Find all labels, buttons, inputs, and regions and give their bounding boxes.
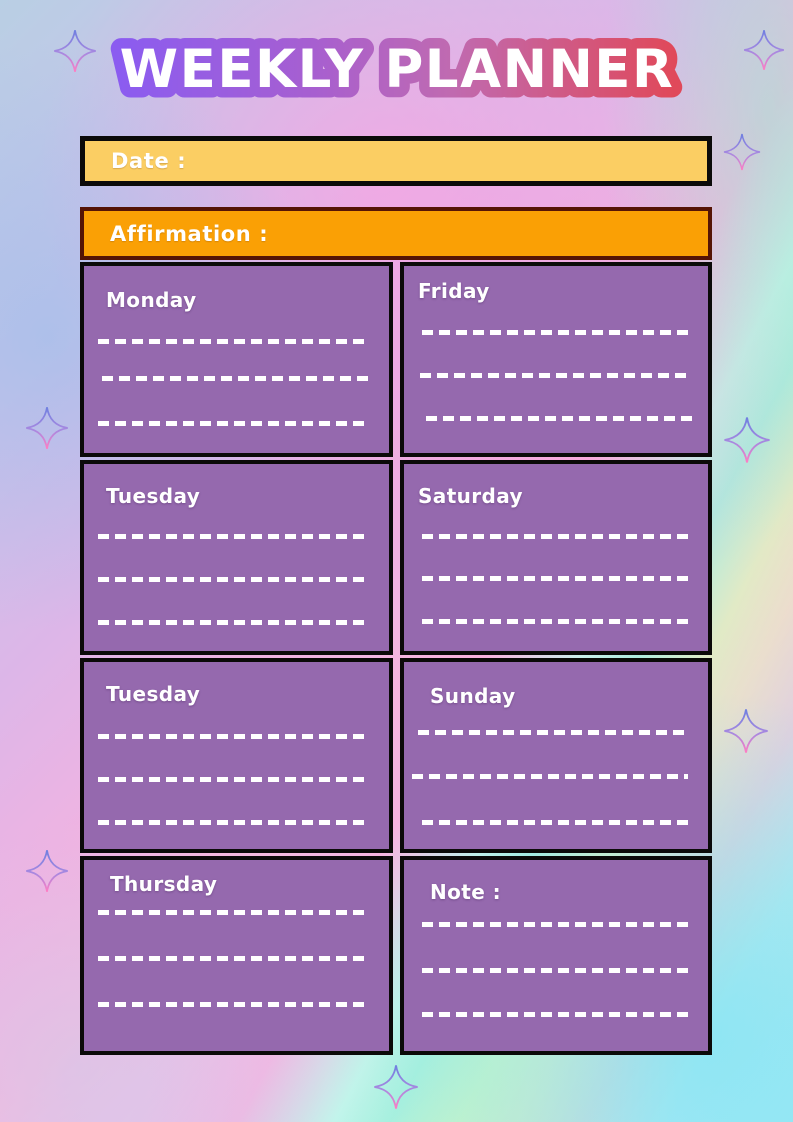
cell-label-thursday: Thursday — [110, 872, 217, 896]
day-cell-friday[interactable]: Friday — [400, 262, 712, 457]
write-line-friday-3[interactable] — [426, 416, 696, 421]
four-point-sparkle-icon — [24, 405, 70, 455]
four-point-sparkle-icon — [722, 415, 772, 469]
write-line-note-2[interactable] — [422, 968, 690, 973]
cell-label-sunday: Sunday — [430, 684, 516, 708]
write-line-tuesday-2-2[interactable] — [98, 777, 366, 782]
day-grid: MondayFridayTuesdaySaturdayTuesdaySunday… — [80, 262, 712, 1055]
write-line-saturday-2[interactable] — [422, 576, 690, 581]
date-label: Date : — [111, 149, 186, 173]
cell-label-note: Note : — [430, 880, 501, 904]
cell-label-friday: Friday — [418, 279, 490, 303]
write-line-note-1[interactable] — [422, 922, 690, 927]
write-line-tuesday-2-1[interactable] — [98, 734, 366, 739]
write-line-tuesday-1[interactable] — [98, 534, 366, 539]
write-line-monday-3[interactable] — [98, 421, 367, 426]
write-line-sunday-2[interactable] — [412, 774, 688, 779]
day-cell-thursday[interactable]: Thursday — [80, 856, 393, 1055]
write-line-tuesday-2[interactable] — [98, 577, 366, 582]
four-point-sparkle-icon — [372, 1063, 420, 1115]
write-line-thursday-1[interactable] — [98, 910, 370, 915]
title-svg: WEEKLY PLANNER WEEKLY PLANNER — [97, 34, 697, 106]
date-field[interactable]: Date : — [80, 136, 712, 186]
day-cell-monday[interactable]: Monday — [80, 262, 393, 457]
four-point-sparkle-icon — [722, 707, 770, 759]
title-fill: WEEKLY PLANNER — [119, 39, 674, 100]
day-cell-saturday[interactable]: Saturday — [400, 460, 712, 655]
write-line-sunday-1[interactable] — [418, 730, 690, 735]
four-point-sparkle-icon — [24, 848, 70, 898]
planner-page: WEEKLY PLANNER WEEKLY PLANNER Date : Aff… — [0, 0, 793, 1122]
day-cell-tuesday[interactable]: Tuesday — [80, 460, 393, 655]
write-line-saturday-3[interactable] — [422, 619, 692, 624]
affirmation-field[interactable]: Affirmation : — [80, 207, 712, 260]
write-line-tuesday-3[interactable] — [98, 620, 366, 625]
page-title: WEEKLY PLANNER WEEKLY PLANNER — [0, 34, 793, 106]
day-cell-note[interactable]: Note : — [400, 856, 712, 1055]
write-line-thursday-3[interactable] — [98, 1002, 368, 1007]
cell-label-tuesday-2: Tuesday — [106, 682, 200, 706]
write-line-note-3[interactable] — [422, 1012, 690, 1017]
write-line-monday-2[interactable] — [102, 376, 369, 381]
cell-label-monday: Monday — [106, 288, 197, 312]
write-line-friday-2[interactable] — [420, 373, 686, 378]
write-line-sunday-3[interactable] — [422, 820, 690, 825]
day-cell-sunday[interactable]: Sunday — [400, 658, 712, 853]
write-line-friday-1[interactable] — [422, 330, 692, 335]
cell-label-saturday: Saturday — [418, 484, 523, 508]
four-point-sparkle-icon — [722, 132, 762, 176]
affirmation-label: Affirmation : — [110, 222, 268, 246]
write-line-thursday-2[interactable] — [98, 956, 368, 961]
write-line-saturday-1[interactable] — [422, 534, 692, 539]
day-cell-tuesday-2[interactable]: Tuesday — [80, 658, 393, 853]
write-line-tuesday-2-3[interactable] — [98, 820, 366, 825]
cell-label-tuesday: Tuesday — [106, 484, 200, 508]
write-line-monday-1[interactable] — [98, 339, 367, 344]
